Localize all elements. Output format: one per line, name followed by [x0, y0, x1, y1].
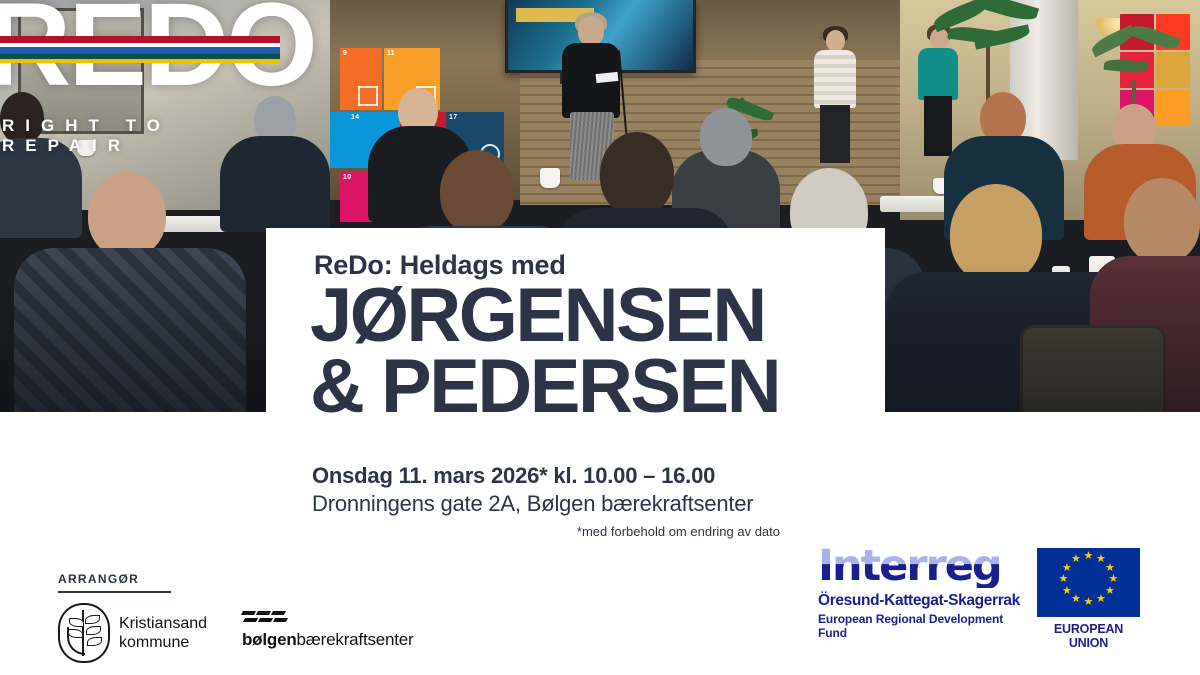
bolgen-label: bølgenbærekraftsenter [242, 630, 414, 650]
standing-person-head [826, 30, 845, 52]
organiser-logos: Kristiansandkommune bølgenbærekraftsente… [58, 603, 418, 665]
kristiansand-kommune-label: Kristiansandkommune [119, 614, 207, 652]
kk-line1: Kristiansand [119, 615, 207, 632]
interreg-logo: Interreg Öresund-Kattegat-Skagerrak Euro… [818, 545, 1033, 640]
event-title: JØRGENSEN & PEDERSEN [310, 280, 779, 423]
title-card: ReDo: Heldags med JØRGENSEN & PEDERSEN [266, 228, 885, 412]
organiser-label: ARRANGØR [58, 572, 418, 586]
european-union-logo: EUROPEAN UNION [1037, 548, 1140, 650]
bolgen-descriptor: bærekraftsenter [297, 630, 414, 649]
redo-stripe [0, 36, 280, 63]
event-poster: 9 11 14 4 17 10 [0, 0, 1200, 675]
event-location: Dronningens gate 2A, Bølgen bærekraftsen… [312, 490, 872, 518]
organiser-divider [58, 591, 171, 593]
eu-label: EUROPEAN UNION [1037, 622, 1140, 650]
stripe-yellow [0, 59, 280, 63]
coffee-cup [540, 168, 560, 188]
audience-head [700, 108, 752, 166]
stripe-red [0, 36, 280, 43]
eu-flag-icon [1037, 548, 1140, 617]
wave-lines-icon [242, 611, 290, 627]
redo-tagline: RIGHT TO REPAIR [2, 116, 290, 156]
audience-head [950, 184, 1042, 284]
event-datetime: Onsdag 11. mars 2026* kl. 10.00 – 16.00 [312, 462, 872, 490]
audience-head [1124, 178, 1200, 264]
stripe-blue [0, 47, 280, 54]
kk-line2: kommune [119, 634, 189, 651]
event-details: Onsdag 11. mars 2026* kl. 10.00 – 16.00 … [312, 462, 872, 539]
sdg-poster: 9 [340, 48, 382, 110]
speaker-head [578, 16, 604, 46]
bolgen-name: bølgen [242, 630, 297, 649]
standing-person-torso [814, 50, 856, 108]
palm-plant [930, 0, 1040, 110]
kristiansand-seal-icon [58, 603, 110, 663]
organiser-block: ARRANGØR Kristiansandkommune [58, 572, 418, 665]
redo-logo: REDO RIGHT TO REPAIR [0, 0, 290, 148]
audience-body [14, 248, 246, 412]
bolgen-logo: bølgenbærekraftsenter [242, 611, 414, 650]
audience-head [440, 150, 514, 234]
kristiansand-kommune-logo: Kristiansandkommune [58, 603, 207, 663]
interreg-programme: Öresund-Kattegat-Skagerrak [818, 592, 1033, 610]
interreg-fund: European Regional Development Fund [818, 612, 1033, 640]
audience-head [600, 132, 674, 216]
sdg-poster [330, 112, 348, 168]
chair [1020, 325, 1166, 412]
standing-person-legs [820, 105, 850, 163]
audience-head [88, 172, 166, 258]
event-date-footnote: *med forbehold om endring av dato [312, 524, 872, 539]
interreg-wordmark: Interreg [818, 545, 1033, 588]
